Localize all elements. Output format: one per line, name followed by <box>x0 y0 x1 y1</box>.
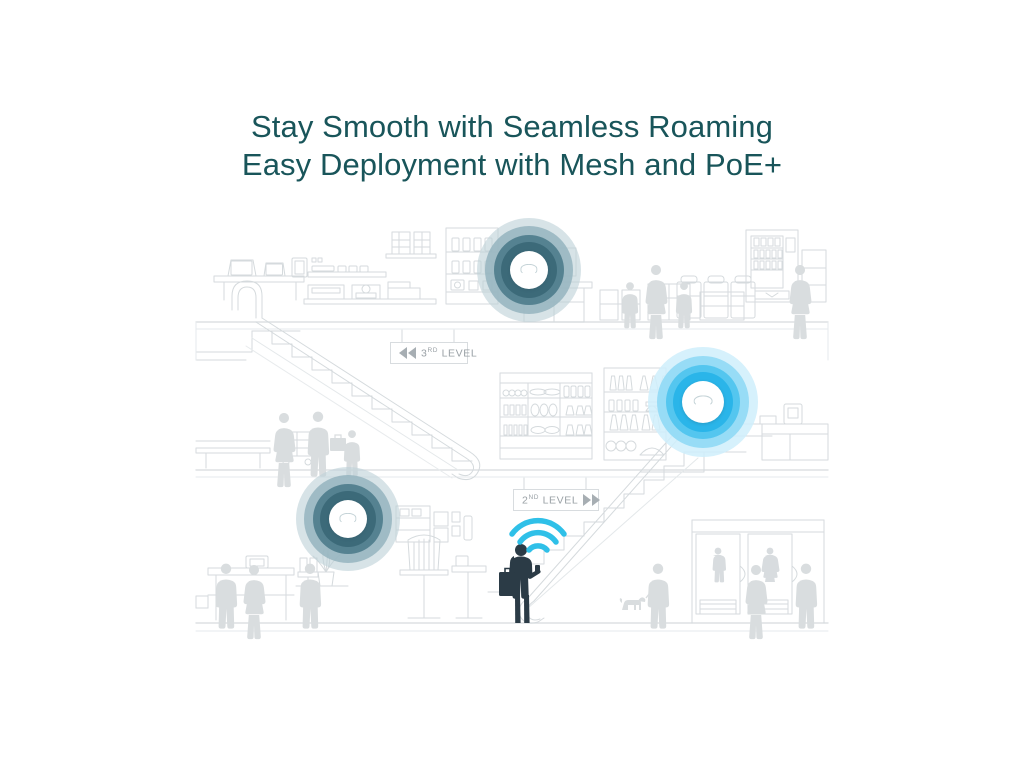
sign-2nd-level-ordinal: ND <box>528 494 539 501</box>
illustration-page: Stay Smooth with Seamless Roaming Easy D… <box>0 0 1024 768</box>
sign-2nd-level-word: LEVEL <box>543 494 579 506</box>
access-point-ground-level[interactable] <box>296 467 400 571</box>
access-point-mid-level[interactable] <box>648 347 758 457</box>
access-point-top-level[interactable] <box>477 218 581 322</box>
ap-device-body[interactable] <box>329 500 367 538</box>
sign-3rd-level-label: 3RD LEVEL <box>421 347 477 360</box>
wifi-signal-icon <box>506 508 572 556</box>
ap-device-body[interactable] <box>682 381 724 423</box>
sign-3rd-level[interactable]: 3RD LEVEL <box>390 342 468 364</box>
sign-2nd-level-label: 2ND LEVEL <box>522 494 578 507</box>
sign-3rd-level-ordinal: RD <box>427 347 438 354</box>
ap-device-body[interactable] <box>510 251 548 289</box>
sign-2nd-level[interactable]: 2ND LEVEL <box>513 489 599 511</box>
mall-scene-illustration <box>0 0 1024 768</box>
arrow-right-icon <box>583 494 600 506</box>
sign-3rd-level-word: LEVEL <box>442 347 478 359</box>
arrow-left-icon <box>399 347 416 359</box>
